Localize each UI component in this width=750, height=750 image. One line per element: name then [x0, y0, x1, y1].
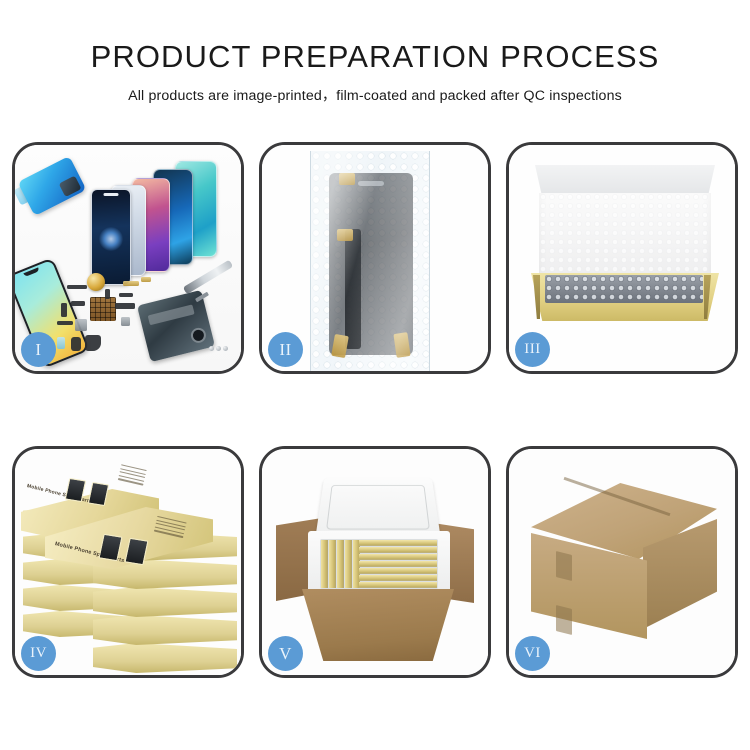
part-speaker-icon — [75, 319, 87, 331]
step-numeral-1: I — [35, 340, 41, 360]
part-pin-icon — [61, 303, 67, 317]
part-button-icon — [105, 289, 110, 299]
phone-notch-icon — [104, 193, 119, 196]
step-numeral-2: II — [279, 340, 291, 360]
step-badge-4: IV — [21, 636, 56, 671]
carton-tape-icon — [556, 551, 572, 581]
step-panel-4: Mobile Phone Spare Parts Mobile Phone Sp… — [12, 446, 244, 678]
chip-array-icon — [90, 297, 116, 321]
bag-highlight — [311, 151, 429, 371]
carton-tape-icon — [556, 605, 572, 635]
step-panel-1: I — [12, 142, 244, 374]
part-gold-clip-icon — [141, 277, 151, 282]
screws-group-icon — [208, 339, 229, 357]
step-badge-5: V — [268, 636, 303, 671]
step-numeral-6: VI — [524, 645, 541, 662]
part-bracket-icon — [85, 335, 101, 351]
part-flex-icon — [57, 321, 73, 325]
page-subtitle: All products are image-printed，film-coat… — [0, 85, 750, 105]
foam-lid-icon — [315, 478, 441, 540]
part-camera-icon — [71, 337, 81, 351]
step-numeral-5: V — [279, 644, 292, 664]
part-ribbon-icon — [115, 303, 135, 309]
retail-boxes-group-icon — [321, 540, 437, 588]
step-panel-2: II — [259, 142, 491, 374]
step-panel-5: V — [259, 446, 491, 678]
part-battery-icon — [57, 337, 65, 349]
step-badge-6: VI — [515, 636, 550, 671]
step-panel-3: III — [506, 142, 738, 374]
part-cable-icon — [71, 301, 85, 306]
step-badge-3: III — [515, 332, 550, 367]
product-preparation-infographic: PRODUCT PREPARATION PROCESS All products… — [0, 0, 750, 750]
bubble-wrap-bag-icon — [310, 151, 430, 371]
step-panel-6: VI — [506, 446, 738, 678]
step-badge-2: II — [268, 332, 303, 367]
screen-glass-icon — [91, 189, 131, 285]
carton-body-icon — [302, 589, 454, 661]
bubble-wrap-contents-icon — [545, 275, 703, 303]
page-title: PRODUCT PREPARATION PROCESS — [0, 41, 750, 74]
step-numeral-3: III — [524, 341, 541, 358]
vibration-coil-icon — [87, 273, 105, 291]
part-screw-plate-icon — [121, 317, 130, 326]
step-numeral-4: IV — [30, 645, 47, 662]
box-lid-icon — [539, 193, 711, 285]
part-gold-flex-icon — [123, 281, 139, 286]
steps-grid: I II — [12, 142, 738, 678]
step-badge-1: I — [21, 332, 56, 367]
header: PRODUCT PREPARATION PROCESS All products… — [0, 0, 750, 105]
part-connector-icon — [119, 293, 133, 297]
part-strip-icon — [67, 285, 87, 289]
